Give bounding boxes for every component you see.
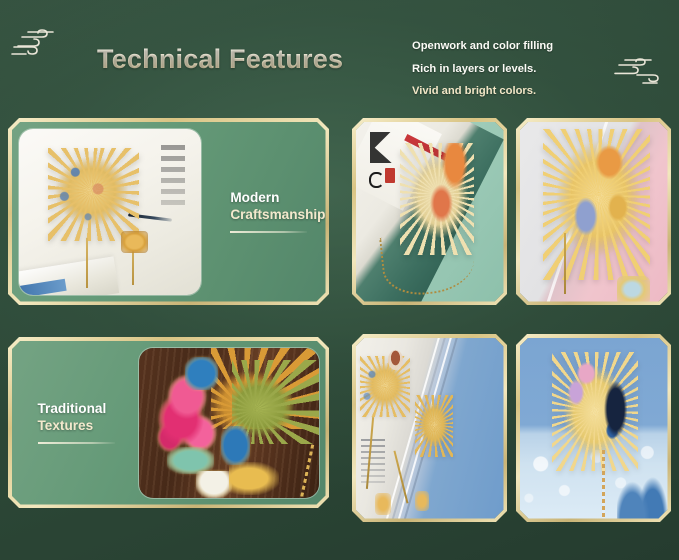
photo-phoenix-bookmark xyxy=(520,122,668,302)
photo-twin-bookmarks xyxy=(356,338,504,519)
card-label-line1: Modern xyxy=(230,190,325,205)
page-title: Technical Features xyxy=(97,44,343,75)
card-label-line1: Traditional xyxy=(38,401,132,416)
card-modern-craftsmanship[interactable]: Modern Craftsmanship xyxy=(8,118,329,305)
photo-traditional-textures xyxy=(139,348,319,498)
card-label-line2: Textures xyxy=(38,418,132,433)
card-twin-bookmarks[interactable] xyxy=(352,334,507,522)
card-traditional-textures[interactable]: Traditional Textures xyxy=(8,337,329,508)
photo-lotus-koi-bookmark xyxy=(520,338,668,519)
label-underline xyxy=(230,231,307,233)
infographic-page: Technical Features Openwork and color fi… xyxy=(0,0,679,560)
card-phoenix-bookmark[interactable] xyxy=(516,118,671,305)
feature-line-1: Openwork and color filling xyxy=(412,35,662,58)
card-label-line2: Craftsmanship xyxy=(230,207,325,222)
label-traditional-textures: Traditional Textures xyxy=(12,341,132,505)
label-underline xyxy=(38,442,115,444)
label-modern-craftsmanship: Modern Craftsmanship xyxy=(208,122,325,302)
header: Technical Features Openwork and color fi… xyxy=(0,0,679,112)
cloud-motif-icon xyxy=(8,27,70,61)
cloud-motif-icon xyxy=(607,56,667,88)
photo-goldfish-bookmark xyxy=(356,122,504,302)
card-lotus-koi-bookmark[interactable] xyxy=(516,334,671,522)
photo-modern-craftsmanship xyxy=(19,129,202,295)
card-goldfish-bookmark[interactable] xyxy=(352,118,507,305)
